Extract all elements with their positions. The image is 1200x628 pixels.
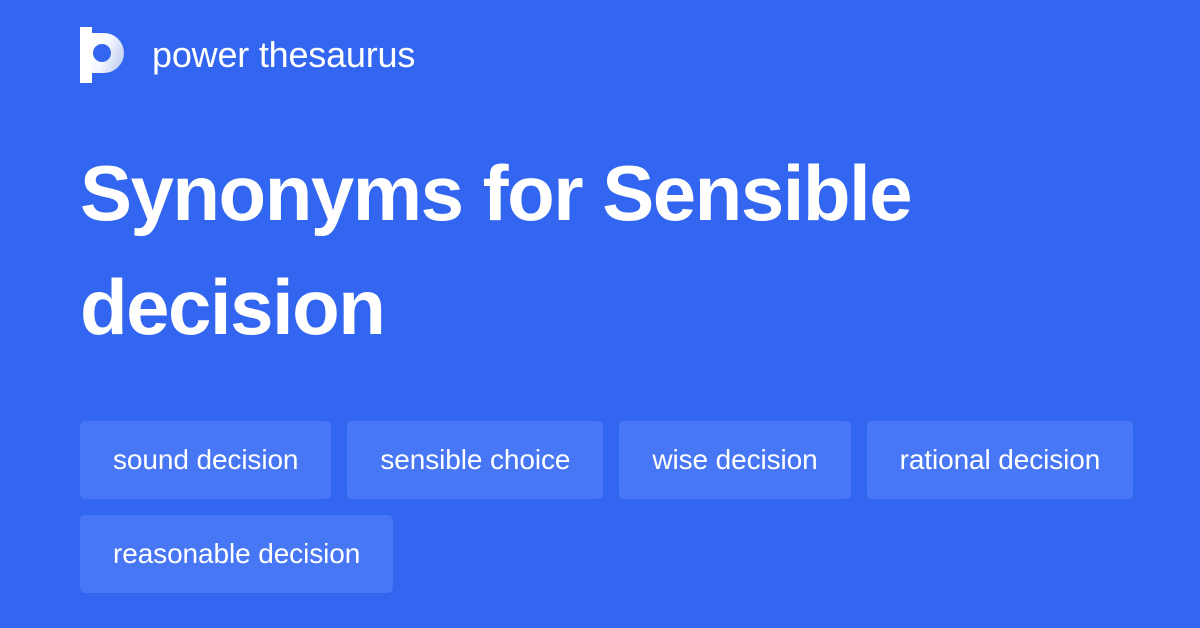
synonym-tag[interactable]: rational decision [867, 421, 1134, 499]
share-card: power thesaurus Synonyms for Sensible de… [0, 0, 1200, 628]
synonym-tag[interactable]: sensible choice [347, 421, 603, 499]
synonym-tag-list: sound decision sensible choice wise deci… [80, 421, 1140, 593]
brand-header[interactable]: power thesaurus [80, 26, 415, 84]
synonym-tag[interactable]: wise decision [619, 421, 850, 499]
power-thesaurus-b-logo-icon [80, 27, 126, 83]
page-title: Synonyms for Sensible decision [80, 136, 1080, 364]
page-title-line-2: decision [80, 250, 1080, 364]
page-title-line-1: Synonyms for Sensible [80, 136, 1080, 250]
brand-name: power thesaurus [152, 37, 415, 73]
synonym-tag[interactable]: reasonable decision [80, 515, 393, 593]
synonym-tag[interactable]: sound decision [80, 421, 331, 499]
